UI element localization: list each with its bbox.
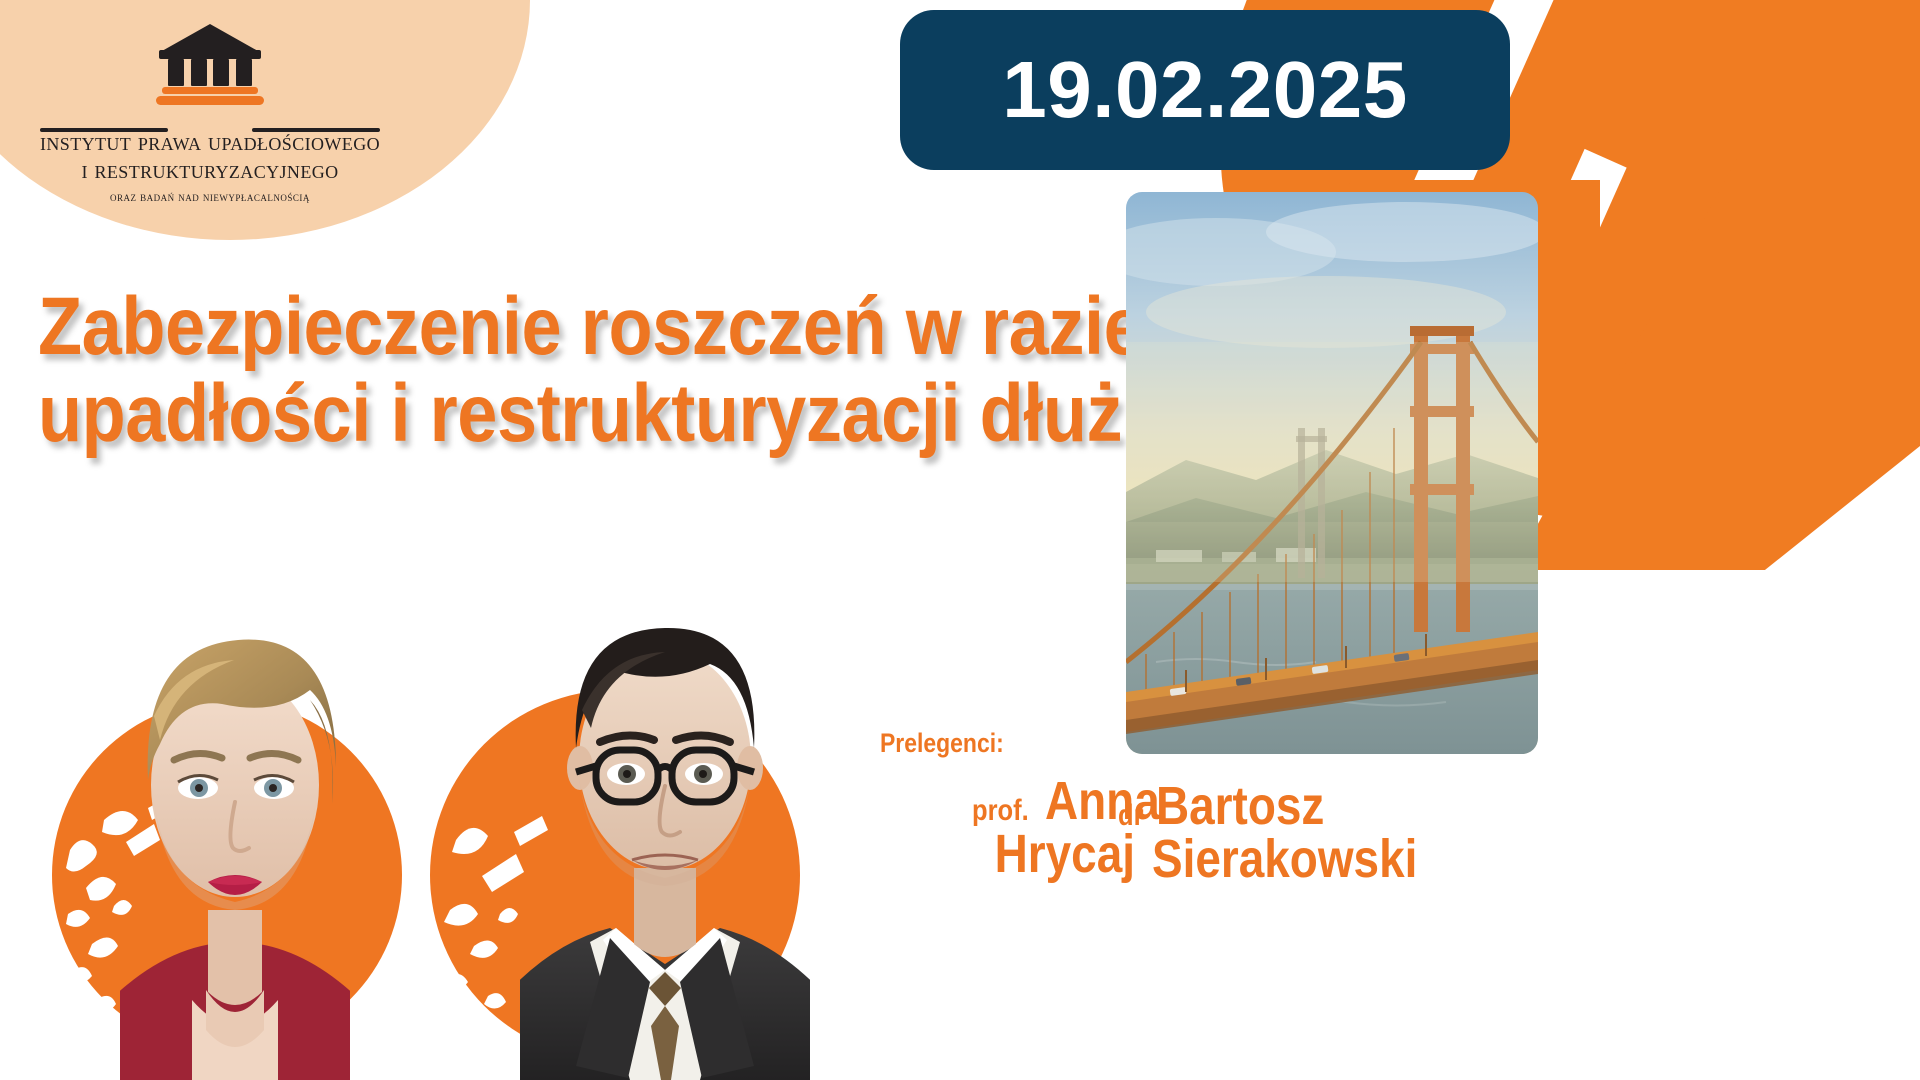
speakers-heading: Prelegenci: [880,728,1356,759]
speaker-2-degree: dr [1118,799,1144,833]
poster-canvas: Instytut Prawa Upadłościowego i Restrukt… [0,0,1920,1080]
speaker-1-degree: prof. [972,794,1029,828]
institute-name-line3: oraz badań nad niewypłacalnością [40,190,380,204]
classical-building-icon [156,24,264,89]
speaker-1-last-name: Hrycaj [880,828,1135,881]
speakers-section: Prelegenci: [880,728,1440,759]
poster-title-line1: Zabezpieczenie roszczeń w razie [38,288,1120,367]
portrait-bartosz-sierakowski [520,520,810,1080]
institute-name-line2: i Restrukturyzacyjnego [40,157,380,185]
event-date-text: 19.02.2025 [1002,44,1407,136]
logo-rule-divider [40,128,380,132]
poster-title-line2: upadłości i restrukturyzacji dłużnika [38,375,1120,454]
poster-title: Zabezpieczenie roszczeń w razie upadłośc… [38,288,1268,453]
event-date-badge: 19.02.2025 [900,10,1510,170]
speaker-2-first-name: Bartosz [1156,780,1324,833]
institute-logo: Instytut Prawa Upadłościowego i Restrukt… [0,24,420,204]
institute-name: Instytut Prawa Upadłościowego i Restrukt… [40,129,380,204]
portrait-anna-hrycaj [120,530,350,1080]
institute-name-line1: Instytut Prawa Upadłościowego [40,129,380,157]
speaker-2: dr Bartosz Sierakowski [1118,780,1538,886]
speaker-2-last-name: Sierakowski [1152,833,1480,886]
golden-gate-bridge-photo [1126,192,1538,754]
